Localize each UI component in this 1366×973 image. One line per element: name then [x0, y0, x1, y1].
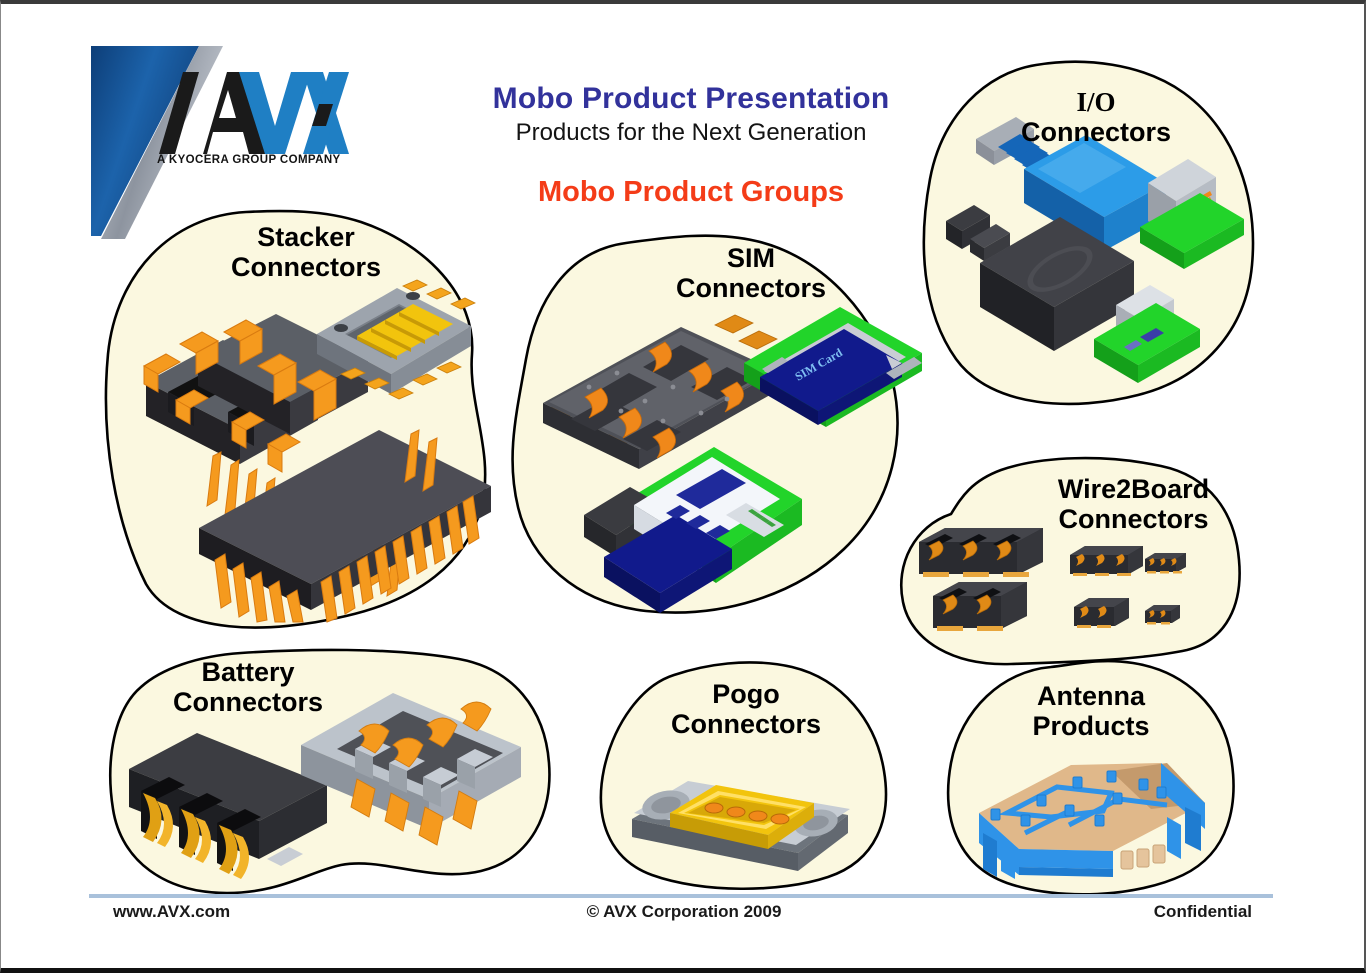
pogo-connector-art: [618, 761, 868, 891]
group-antenna-products[interactable]: Antenna Products: [941, 659, 1241, 899]
wire2board-small-connector-1: [1143, 550, 1189, 578]
logo-tagline: A KYOCERA GROUP COMPANY: [157, 154, 357, 166]
presentation-slide: A KYOCERA GROUP COMPANY Mobo Product Pre…: [0, 0, 1366, 973]
stacker-window-connector-art: [301, 282, 481, 442]
antenna-assembly-art: [961, 751, 1221, 881]
battery-silver-connector-art: [297, 679, 537, 864]
group-battery-connectors[interactable]: Battery Connectors: [101, 639, 561, 904]
wire2board-large-connector-2: [929, 576, 1034, 638]
wire2board-medium-connector-1: [1067, 542, 1147, 582]
sim-socket-card-art: [584, 437, 824, 617]
group-io-connectors[interactable]: I/O Connectors: [916, 59, 1261, 409]
page-subtitle: Products for the Next Generation: [381, 119, 1001, 147]
page-title: Mobo Product Presentation: [381, 82, 1001, 116]
group-pogo-connectors[interactable]: Pogo Connectors: [596, 659, 896, 899]
stacker-pin-header-art: [191, 432, 501, 622]
footer-classification: Confidential: [1154, 902, 1252, 922]
io-black-cable-connector-art: [944, 197, 1204, 412]
avx-wordmark: [153, 68, 353, 158]
wire2board-large-connector-1: [915, 522, 1050, 584]
group-sim-connectors[interactable]: SIM Card: [496, 229, 916, 629]
group-stacker-connectors[interactable]: Stacker Connectors: [96, 204, 516, 634]
wire2board-small-connector-2: [1143, 602, 1183, 628]
footer-divider: [89, 894, 1273, 898]
wire2board-medium-connector-2: [1071, 594, 1133, 632]
group-wire2board-connectors[interactable]: Wire2Board Connectors: [891, 454, 1246, 674]
